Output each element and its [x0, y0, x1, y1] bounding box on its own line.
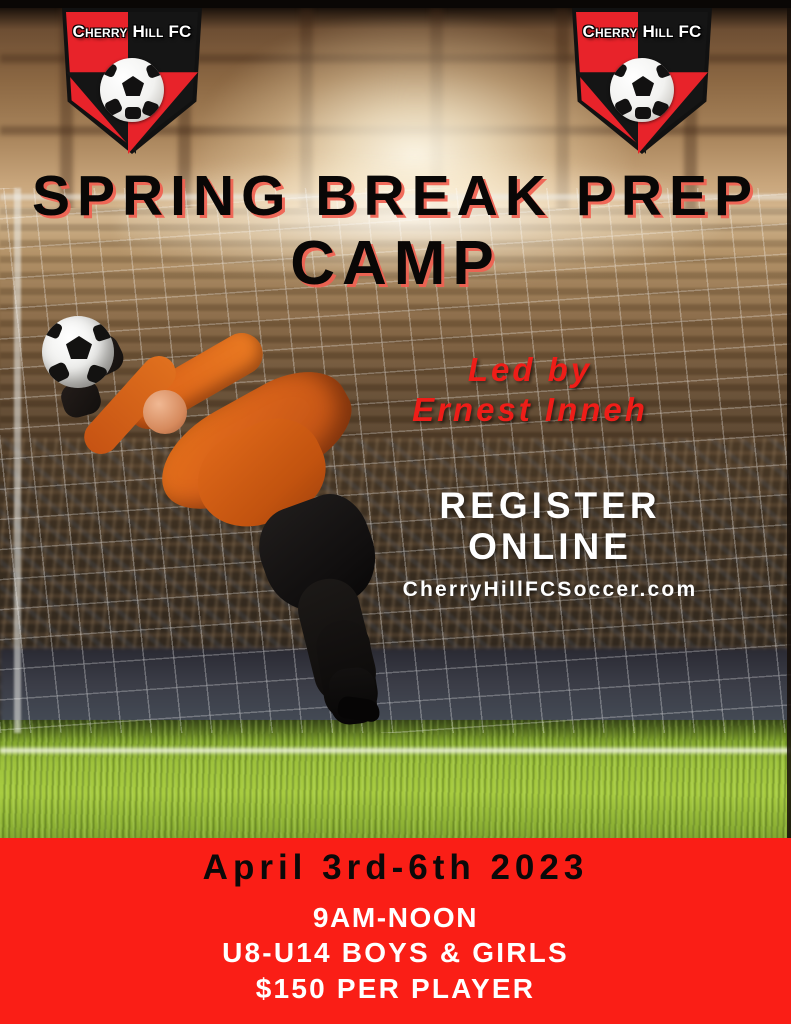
- page-title-line-1: SPRING BREAK PREP: [0, 168, 791, 225]
- register-heading-line-2: ONLINE: [320, 525, 780, 569]
- camp-flyer: Cherry Hill FC Cherry Hill FC SPRING BRE…: [0, 0, 791, 1024]
- crest-club-name: Cherry Hill FC: [62, 22, 202, 42]
- page-title-line-2: CAMP: [0, 233, 791, 295]
- crest-club-name: Cherry Hill FC: [572, 22, 712, 42]
- camp-ages: U8-U14 BOYS & GIRLS: [0, 935, 791, 970]
- top-letterbox-bar: [0, 0, 791, 8]
- registration-website-link[interactable]: CherryHillFCSoccer.com: [320, 578, 780, 602]
- goalkeeper-head: [143, 390, 187, 434]
- camp-dates: April 3rd-6th 2023: [0, 848, 791, 888]
- coach-name: Ernest Inneh: [300, 390, 760, 430]
- soccer-ball-icon: [610, 58, 674, 122]
- soccer-ball-icon: [42, 316, 114, 388]
- register-heading-line-1: REGISTER: [320, 484, 780, 528]
- club-crest-right[interactable]: Cherry Hill FC: [572, 8, 712, 154]
- club-crest-left[interactable]: Cherry Hill FC: [62, 8, 202, 154]
- details-banner: April 3rd-6th 2023 9AM-NOON U8-U14 BOYS …: [0, 838, 791, 1024]
- camp-time: 9AM-NOON: [0, 900, 791, 935]
- right-edge-bar: [787, 0, 791, 838]
- camp-price: $150 PER PLAYER: [0, 971, 791, 1006]
- camp-details: 9AM-NOON U8-U14 BOYS & GIRLS $150 PER PL…: [0, 900, 791, 1006]
- led-by-label: Led by: [300, 350, 760, 390]
- soccer-ball-icon: [100, 58, 164, 122]
